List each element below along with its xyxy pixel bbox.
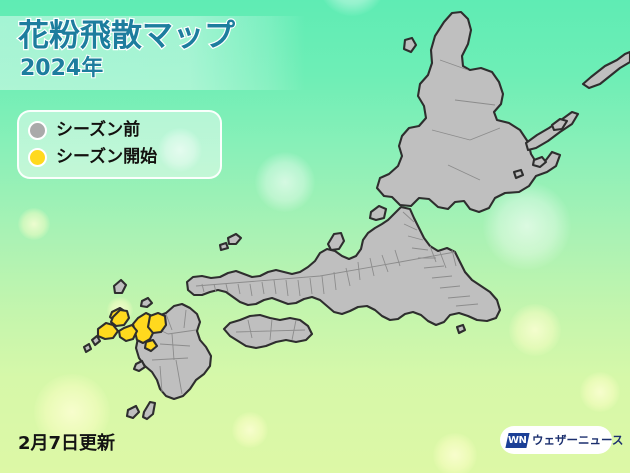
peninsula-noto xyxy=(328,233,344,250)
island-amakusa xyxy=(134,361,145,371)
island-kunashiri xyxy=(526,112,578,150)
region-season-started xyxy=(98,308,166,351)
island-sado xyxy=(370,206,386,220)
island-etorofu xyxy=(583,52,630,88)
page-subtitle-year: 2024年 xyxy=(20,56,308,82)
region-honshu xyxy=(187,207,500,325)
weathernews-logo: WN ウェザーニュース xyxy=(500,426,612,454)
island-nansei-small-1 xyxy=(92,336,100,345)
island-okushiri xyxy=(404,38,416,52)
legend-item-season-started: シーズン開始 xyxy=(28,144,157,170)
update-date-label: 2月7日更新 xyxy=(18,433,115,455)
island-nansei-small-2 xyxy=(84,344,91,352)
circle-marker-yellow-icon xyxy=(28,148,47,167)
pollen-map-infographic: 花粉飛散マップ 2024年 シーズン前 シーズン開始 2月7日更新 WN ウェザ… xyxy=(0,0,630,473)
region-shikoku xyxy=(224,315,312,348)
weathernews-logo-text: ウェザーニュース xyxy=(532,432,623,448)
island-iki xyxy=(141,298,152,307)
island-tanegashima xyxy=(143,402,155,419)
legend-item-before-season: シーズン前 xyxy=(28,117,140,143)
island-oki-small xyxy=(220,243,228,250)
legend-label-before-season: シーズン前 xyxy=(56,121,140,139)
island-izu-oshima xyxy=(457,325,465,333)
island-yakushima xyxy=(127,406,139,418)
circle-marker-gray-icon xyxy=(28,121,47,140)
island-tsushima xyxy=(114,280,126,293)
prefecture-saga xyxy=(148,313,166,333)
wn-logo-mark-text: WN xyxy=(508,435,526,446)
region-hokkaido xyxy=(377,12,560,212)
wn-logo-mark-icon: WN xyxy=(505,433,529,448)
prefecture-nagasaki-north xyxy=(119,325,137,341)
legend-label-season-started: シーズン開始 xyxy=(56,148,157,166)
island-honshu xyxy=(187,207,500,325)
island-oki xyxy=(228,234,241,244)
page-title: 花粉飛散マップ xyxy=(18,18,308,54)
title-block: 花粉飛散マップ 2024年 xyxy=(18,16,308,92)
legend-box: シーズン前 シーズン開始 xyxy=(17,110,222,179)
